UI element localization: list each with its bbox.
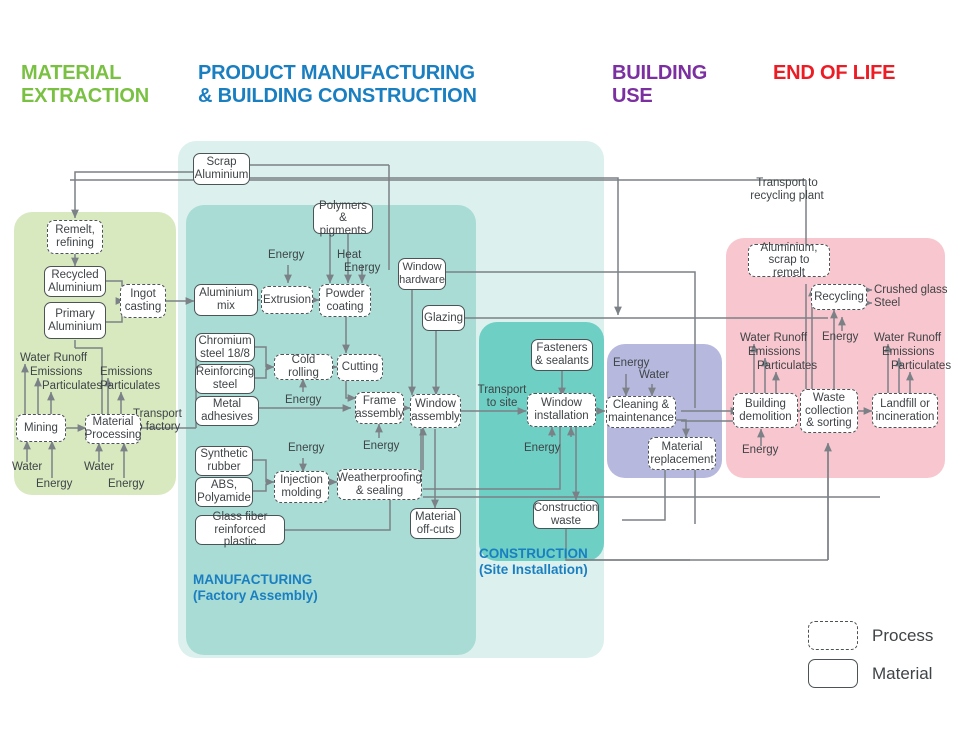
label-energy-window-installation: Energy [524,442,560,455]
node-weatherproofing-sealing[interactable]: Weatherproofing& sealing [337,469,422,500]
node-glass-fiber-plastic[interactable]: Glass fiberreinforced plastic [195,515,285,545]
node-mining[interactable]: Mining [16,414,66,442]
label-energy-building-use: Energy [613,357,649,370]
label-transport-to-recycling-plant: Transport torecycling plant [740,177,834,203]
node-cutting[interactable]: Cutting [337,354,383,381]
header-line-2: & BUILDING CONSTRUCTION [198,85,477,108]
label-energy-frame: Energy [363,440,399,453]
node-aluminium-mix[interactable]: Aluminiummix [194,284,258,316]
header-building-use: BUILDING USE [612,62,707,108]
node-cleaning-maintenance[interactable]: Cleaning &maintenance [606,396,676,428]
node-cold-rolling[interactable]: Cold rolling [274,354,333,380]
material-swatch-icon [808,659,858,688]
node-scrap-aluminium[interactable]: ScrapAluminium [193,153,250,185]
node-recycled-aluminium[interactable]: RecycledAluminium [44,266,106,297]
node-window-hardware[interactable]: Windowhardware [398,258,446,290]
label-energy-recycling: Energy [822,331,858,344]
label-heat-powder: Heat [337,249,361,262]
header-end-of-life: END OF LIFE [773,62,895,85]
label-emissions-landfill: Emissions [882,346,934,359]
label-energy-injection: Energy [288,442,324,455]
header-line-1: BUILDING [612,62,707,85]
label-steel: Steel [874,297,900,310]
lifecycle-diagram: MATERIAL EXTRACTION PRODUCT MANUFACTURIN… [0,0,960,735]
node-material-processing[interactable]: MaterialProcessing [85,414,141,444]
node-recycling[interactable]: Recycling [811,284,867,310]
label-particulates-mid: Particulates [100,380,160,393]
node-remelt-refining[interactable]: Remelt,refining [47,220,103,254]
label-crushed-glass: Crushed glass [874,284,948,297]
zone-label-manufacturing-line2: (Factory Assembly) [193,588,318,604]
node-material-off-cuts[interactable]: Materialoff-cuts [410,508,461,539]
legend-item-process: Process [808,621,933,650]
process-swatch-icon [808,621,858,650]
node-powder-coating[interactable]: Powdercoating [319,284,371,317]
node-fasteners-sealants[interactable]: Fasteners& sealants [531,339,593,371]
node-reinforcing-steel[interactable]: Reinforcingsteel [195,364,255,394]
zone-label-construction: CONSTRUCTION (Site Installation) [479,546,588,578]
label-emissions-demolition: Emissions [748,346,800,359]
node-synthetic-rubber[interactable]: Syntheticrubber [195,446,253,476]
label-water-processing: Water [84,461,114,474]
zone-label-manufacturing: MANUFACTURING (Factory Assembly) [193,572,318,604]
node-aluminium-scrap-remelt[interactable]: Aluminium,scrap to remelt [748,244,830,277]
legend-label-material: Material [872,664,932,684]
label-particulates-demolition: Particulates [757,360,817,373]
label-energy-demolition: Energy [742,444,778,457]
label-water-runoff-landfill: Water Runoff [874,332,941,345]
legend: Process Material [808,621,933,697]
label-water-building-use: Water [639,369,669,382]
header-material-extraction: MATERIAL EXTRACTION [21,62,149,108]
header-product-manufacturing: PRODUCT MANUFACTURING & BUILDING CONSTRU… [198,62,477,108]
node-building-demolition[interactable]: Buildingdemolition [733,393,798,428]
label-emissions-mid: Emissions [100,366,152,379]
label-energy-processing: Energy [108,478,144,491]
node-glazing[interactable]: Glazing [422,305,465,331]
label-energy-cold-rolling: Energy [285,394,321,407]
node-frame-assembly[interactable]: Frameassembly [355,392,404,424]
node-window-assembly[interactable]: Windowassembly [410,394,461,428]
zone-label-construction-line1: CONSTRUCTION [479,546,588,562]
node-construction-waste[interactable]: Constructionwaste [533,500,599,529]
label-energy-mining: Energy [36,478,72,491]
header-line-2: USE [612,85,707,108]
node-landfill-incineration[interactable]: Landfill orincineration [872,393,938,428]
node-extrusion[interactable]: Extrusion [261,286,313,314]
header-line-2: EXTRACTION [21,85,149,108]
label-particulates-landfill: Particulates [891,360,951,373]
node-waste-collection-sorting[interactable]: Wastecollection& sorting [800,389,858,433]
header-line-1: PRODUCT MANUFACTURING [198,62,477,85]
label-transport-to-site: Transportto site [471,384,533,410]
header-line-1: END OF LIFE [773,62,895,85]
legend-item-material: Material [808,659,933,688]
node-window-installation[interactable]: Windowinstallation [527,393,596,427]
node-metal-adhesives[interactable]: Metaladhesives [195,396,259,426]
label-energy-extrusion: Energy [268,249,304,262]
node-polymers-pigments[interactable]: Polymers& pigments [313,203,373,234]
label-water-mining: Water [12,461,42,474]
node-abs-polyamide[interactable]: ABS,Polyamide [195,477,253,507]
label-energy-powder: Energy [344,262,380,275]
header-line-1: MATERIAL [21,62,149,85]
node-injection-molding[interactable]: Injectionmolding [274,471,329,503]
node-primary-aluminium[interactable]: PrimaryAluminium [44,302,106,339]
label-water-runoff-left: Water Runoff [20,352,87,365]
node-ingot-casting[interactable]: Ingotcasting [120,284,166,318]
zone-label-manufacturing-line1: MANUFACTURING [193,572,318,588]
node-chromium-steel[interactable]: Chromiumsteel 18/8 [195,333,255,362]
node-material-replacement[interactable]: Materialreplacement [648,437,716,470]
label-particulates-left: Particulates [42,380,102,393]
label-water-runoff-demolition: Water Runoff [740,332,807,345]
legend-label-process: Process [872,626,933,646]
label-emissions-left: Emissions [30,366,82,379]
zone-label-construction-line2: (Site Installation) [479,562,588,578]
